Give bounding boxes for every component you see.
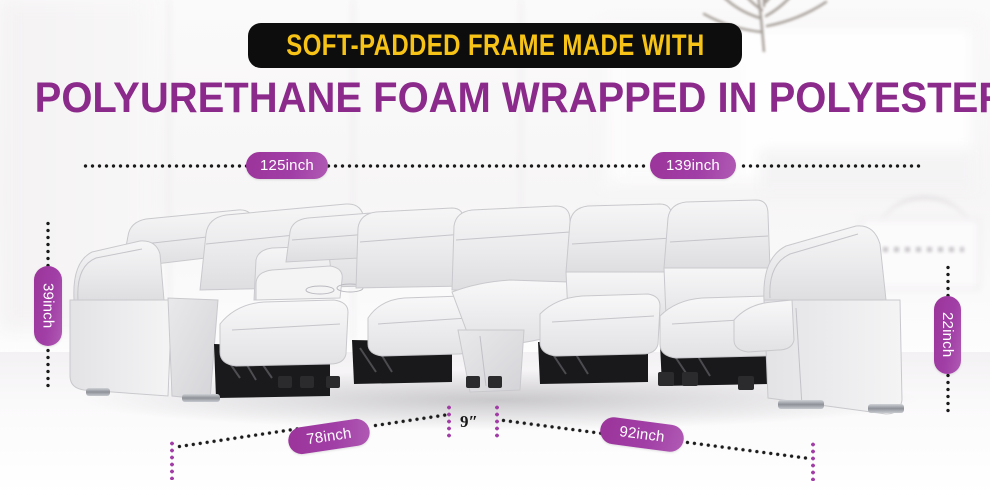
- right-arm-top: [764, 226, 886, 300]
- corner-leg-1: [466, 376, 480, 388]
- top-dimension-line-left: [82, 164, 250, 168]
- left-arm-side: [70, 300, 172, 396]
- headline-badge: SOFT-PADDED FRAME MADE WITH: [248, 23, 742, 68]
- left-arm-top: [74, 241, 164, 300]
- right-dimension-line-top: [946, 264, 950, 300]
- corner-backrest: [452, 206, 572, 290]
- right-footrest-1: [540, 294, 660, 356]
- bottom-left-tick: [170, 440, 174, 480]
- right-headrest-2: [664, 200, 770, 268]
- console-lid: [256, 266, 342, 300]
- dimension-label-9inch: 9″: [460, 412, 478, 432]
- headline-badge-text: SOFT-PADDED FRAME MADE WITH: [286, 29, 704, 63]
- center-tick-right: [495, 404, 499, 440]
- right-leg-1: [658, 372, 674, 386]
- dimension-pill-125inch[interactable]: 125inch: [246, 152, 328, 179]
- right-leg-2: [682, 372, 698, 386]
- right-foot-2: [868, 404, 904, 413]
- dimension-pill-39inch[interactable]: 39inch: [34, 266, 62, 346]
- right-dimension-line-bottom: [946, 372, 950, 414]
- left-dimension-line-bottom: [46, 340, 50, 388]
- dimension-pill-139inch[interactable]: 139inch: [650, 152, 736, 179]
- left-foot-2: [182, 394, 220, 402]
- left-seat-body: [168, 298, 218, 400]
- mid-leg-1: [278, 376, 292, 388]
- right-foot-1: [778, 400, 824, 409]
- right-leg-3: [738, 376, 754, 390]
- right-headrest-1: [566, 204, 674, 272]
- bottom-right-tick: [811, 441, 815, 481]
- promo-graphic: SOFT-PADDED FRAME MADE WITH POLYURETHANE…: [0, 0, 990, 496]
- top-dimension-line-right: [740, 164, 922, 168]
- mid-leg-2: [300, 376, 314, 388]
- headline-main-text: POLYURETHANE FOAM WRAPPED IN POLYESTER F…: [35, 74, 956, 123]
- center-tick-left: [447, 404, 451, 440]
- left-footrest: [220, 300, 348, 366]
- left-foot: [86, 388, 110, 396]
- corner-leg-2: [488, 376, 502, 388]
- mid-backrest-1: [356, 208, 466, 288]
- mid-leg-3: [326, 376, 340, 388]
- dimension-pill-22inch[interactable]: 22inch: [934, 296, 961, 374]
- top-dimension-line-middle: [325, 164, 647, 168]
